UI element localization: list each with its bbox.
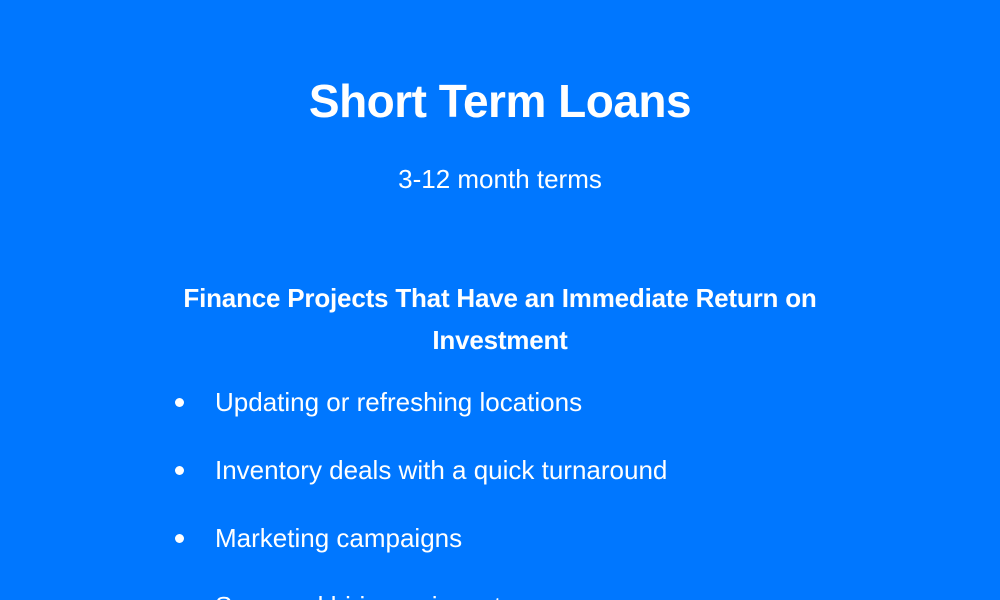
slide-container: Short Term Loans 3-12 month terms Financ…: [0, 0, 1000, 600]
list-item-label: Marketing campaigns: [215, 523, 462, 553]
list-item: Marketing campaigns: [170, 521, 970, 589]
list-item-label: Seasonal hiring or inventory: [215, 591, 537, 600]
subtitle-text: 3-12 month terms: [0, 164, 1000, 195]
bullet-dot-icon: [175, 466, 184, 475]
list-item: Seasonal hiring or inventory: [170, 589, 970, 600]
section-heading: Finance Projects That Have an Immediate …: [150, 277, 850, 361]
bullet-dot-icon: [175, 534, 184, 543]
list-item-label: Updating or refreshing locations: [215, 387, 582, 417]
list-item-label: Inventory deals with a quick turnaround: [215, 455, 667, 485]
list-item: Updating or refreshing locations: [170, 385, 970, 453]
bullet-dot-icon: [175, 398, 184, 407]
page-title: Short Term Loans: [0, 75, 1000, 128]
benefits-list: Updating or refreshing locations Invento…: [170, 385, 970, 600]
list-item: Inventory deals with a quick turnaround: [170, 453, 970, 521]
